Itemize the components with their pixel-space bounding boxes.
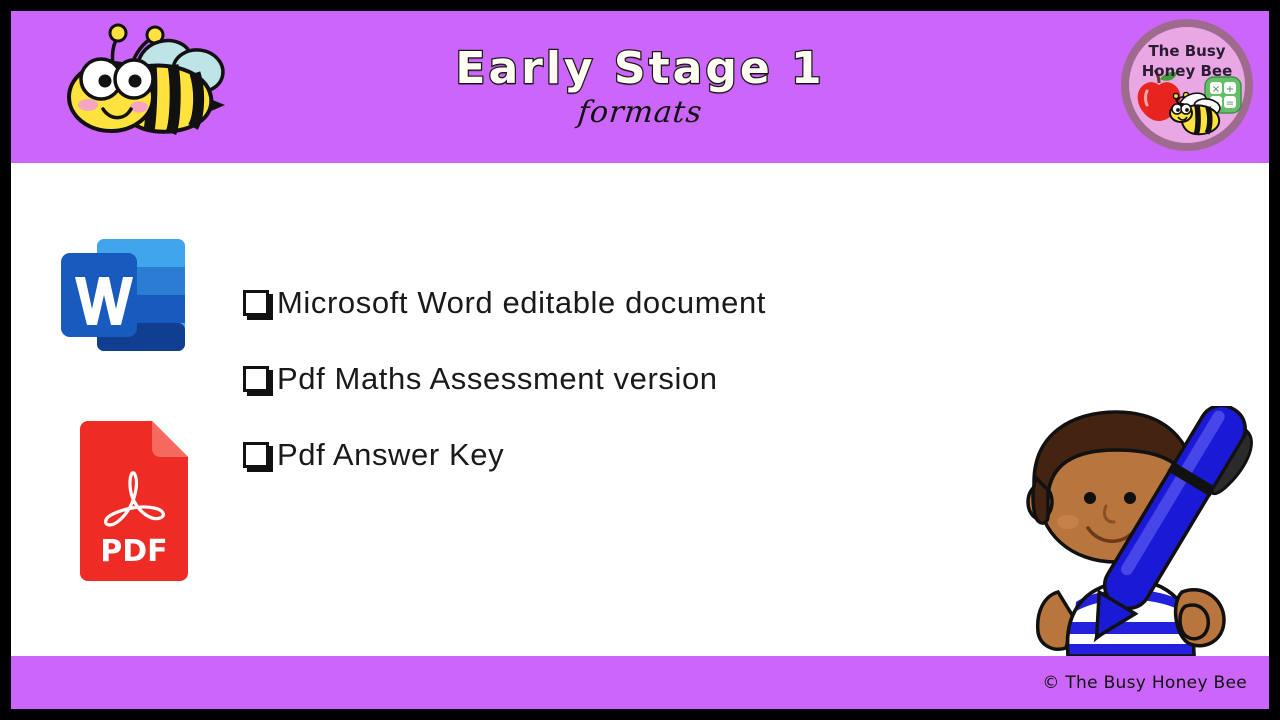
slide-canvas: Early Stage 1 formats: [11, 11, 1269, 709]
content-area: PDF Microsoft Word editable document Pdf…: [11, 163, 1269, 656]
checkbox-icon[interactable]: [243, 366, 269, 392]
checkbox-icon[interactable]: [243, 442, 269, 468]
brand-logo[interactable]: × + − =: [1119, 17, 1255, 153]
list-item[interactable]: Microsoft Word editable document: [243, 265, 1003, 341]
svg-text:+: +: [1226, 84, 1234, 95]
pdf-file-icon: PDF: [74, 421, 194, 581]
svg-text:×: ×: [1212, 84, 1220, 95]
list-item-label: Microsoft Word editable document: [277, 285, 766, 321]
page-title: Early Stage 1: [455, 46, 824, 92]
copyright-text: © The Busy Honey Bee: [1042, 673, 1247, 693]
list-item[interactable]: Pdf Maths Assessment version: [243, 341, 1003, 417]
microsoft-word-icon: [59, 233, 189, 358]
title-block: Early Stage 1 formats: [11, 11, 1269, 163]
page-subtitle: formats: [576, 98, 703, 128]
brand-logo-graphic: × + − =: [1119, 17, 1255, 153]
list-item[interactable]: Pdf Answer Key: [243, 417, 1003, 493]
svg-text:=: =: [1226, 98, 1234, 109]
boy-with-pen-clipart: [1010, 406, 1265, 656]
list-item-label: Pdf Answer Key: [277, 437, 504, 473]
checkbox-icon[interactable]: [243, 290, 269, 316]
svg-text:PDF: PDF: [100, 534, 167, 569]
list-item-label: Pdf Maths Assessment version: [277, 361, 718, 397]
header-bar: Early Stage 1 formats: [11, 11, 1269, 163]
formats-checklist: Microsoft Word editable document Pdf Mat…: [243, 265, 1003, 493]
footer-bar: © The Busy Honey Bee: [11, 656, 1269, 709]
slide-frame: Early Stage 1 formats: [0, 0, 1280, 720]
